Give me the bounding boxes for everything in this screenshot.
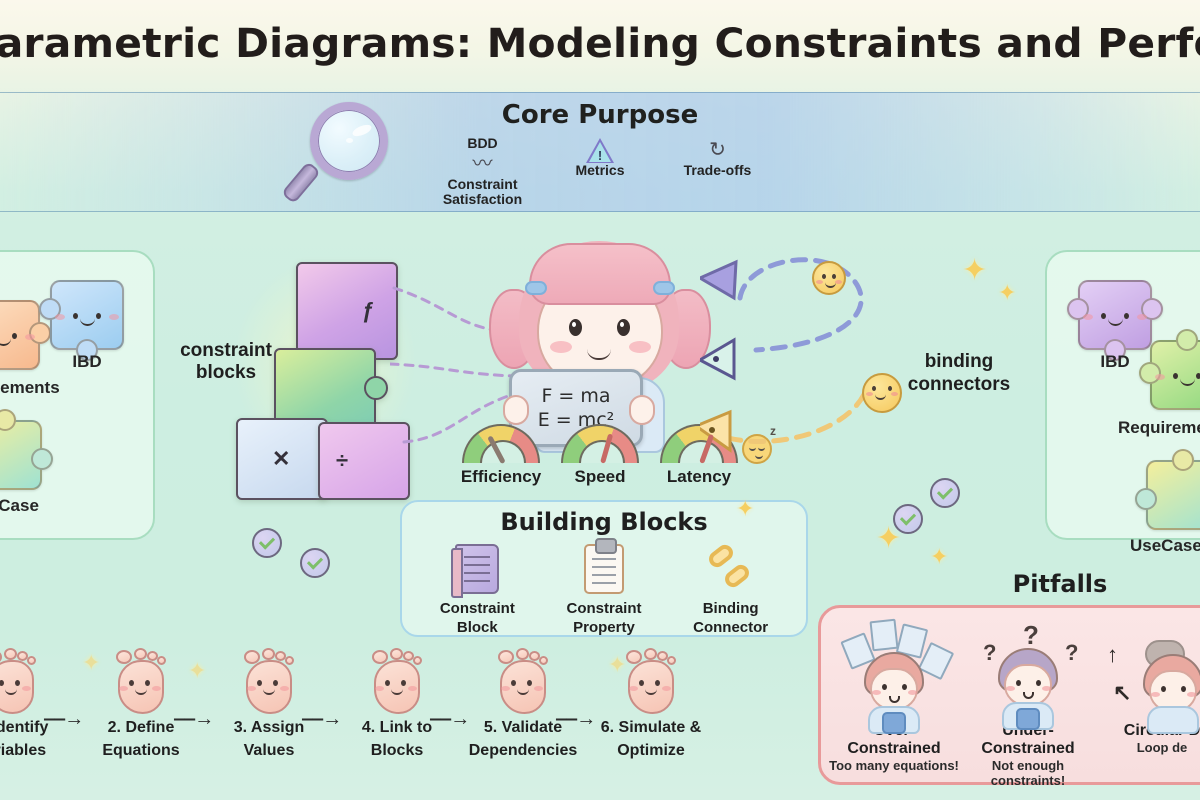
page-title-band: ysML Parametric Diagrams: Modeling Const… <box>0 0 1200 88</box>
step-label-line2: Variables <box>0 741 70 760</box>
cube-glyph-function: ƒ <box>362 298 374 324</box>
core-item-label: Metrics <box>548 163 653 178</box>
bb-label-line1: Constraint <box>418 600 536 617</box>
hand-right <box>629 395 655 425</box>
puzzle-label-ibd: IBD <box>42 352 132 372</box>
puzzle-requirements-right <box>1150 340 1200 410</box>
pitfall-sub: Too many equations! <box>827 758 961 773</box>
sparkle-icon: ✦ <box>608 654 626 676</box>
bb-label-line2: Block <box>418 619 536 636</box>
core-purpose-heading: Core Purpose <box>0 100 1200 130</box>
pitfalls-heading: Pitfalls <box>960 570 1160 598</box>
core-item-constraint-satisfaction: BDD 〰 Constraint Satisfaction <box>430 136 535 207</box>
core-item-metrics: ! Metrics <box>548 136 653 178</box>
hair-fringe <box>529 243 671 305</box>
building-block-binding-connector: Binding Connector <box>672 540 790 636</box>
bdd-label: BDD <box>430 136 535 150</box>
eye-left <box>569 319 582 336</box>
step-label-line2: Blocks <box>338 741 456 760</box>
gauge-label: Efficiency <box>455 467 547 487</box>
step-1: 1. Identify Variables <box>0 648 70 760</box>
footprint-icon <box>368 648 426 714</box>
wink-face-icon <box>812 261 846 295</box>
stressed-kid <box>860 652 928 732</box>
question-marks-icon: ? ? ? <box>961 618 1095 722</box>
sparkle-icon: ✦ <box>998 282 1016 304</box>
puzzle-usecase-left <box>0 420 42 490</box>
bb-label-line1: Constraint <box>545 600 663 617</box>
bb-label-line2: Connector <box>672 619 790 636</box>
step-label-line2: Equations <box>82 741 200 760</box>
sparkle-icon: ✦ <box>876 524 901 554</box>
sparkle-icon: ✦ <box>188 660 206 682</box>
engineer-girl: F = ma E = mc² <box>495 237 705 452</box>
papers-overwhelm-icon <box>827 618 961 722</box>
tradeoff-loop-icon: ↻ <box>665 137 770 163</box>
step-label-line2: Optimize <box>592 741 710 760</box>
hair-tie-right <box>653 281 675 295</box>
hand-left <box>503 395 529 425</box>
cube-glyph-multiply: ✕ <box>272 446 290 472</box>
gauge-arc <box>462 424 540 463</box>
footprint-icon <box>240 648 298 714</box>
bb-label-line1: Binding <box>672 600 790 617</box>
core-purpose-items: BDD 〰 Constraint Satisfaction ! Metrics … <box>430 136 770 208</box>
constraint-blocks-label-line1: constraint <box>178 340 274 362</box>
binding-connector-paths <box>700 240 920 460</box>
core-item-label-2: Satisfaction <box>430 192 535 207</box>
warning-triangle-icon: ! <box>548 137 653 163</box>
puzzle-usecase-right <box>1146 460 1200 530</box>
step-label-line2: Values <box>210 741 328 760</box>
cube-glyph-divide: ÷ <box>336 448 348 474</box>
footprint-icon <box>112 648 170 714</box>
bb-label-line2: Property <box>545 619 663 636</box>
sparkle-icon: ✦ <box>82 652 100 674</box>
puzzle-ibd-left <box>50 280 124 350</box>
core-item-label: Trade-offs <box>665 163 770 178</box>
binding-label-line2: connectors <box>900 373 1018 396</box>
pitfall-sub: Not enough constraints! <box>961 758 1095 788</box>
step-5: 5. Validate Dependencies <box>464 648 582 760</box>
footprint-icon <box>0 648 40 714</box>
building-blocks-items: Constraint Block Constraint Property Bin… <box>414 540 794 636</box>
pitfall-circular-dependency: ↑ ↖ Circular D Loop de <box>1095 618 1200 788</box>
binding-label-line1: binding <box>900 350 1018 373</box>
pitfall-sub: Loop de <box>1095 740 1200 755</box>
puzzle-ibd-right <box>1078 280 1152 350</box>
footprint-icon <box>622 648 680 714</box>
smile-face-icon <box>862 373 902 413</box>
building-block-constraint-property: Constraint Property <box>545 540 663 636</box>
dizzy-kid <box>1139 644 1200 724</box>
core-item-label: Constraint <box>430 177 535 192</box>
chain-link-icon <box>672 540 790 598</box>
blush-left <box>550 341 572 353</box>
circular-loop-icon: ↑ ↖ <box>1095 618 1200 722</box>
footprint-icon <box>494 648 552 714</box>
puzzle-label-requirements: Requirements <box>1118 418 1200 438</box>
pitfall-over-constrained: Over-Constrained Too many equations! <box>827 618 961 788</box>
check-badge-icon <box>300 548 330 578</box>
gauge-arc <box>561 424 639 463</box>
check-badge-icon <box>930 478 960 508</box>
step-3: 3. Assign Values <box>210 648 328 760</box>
exclamation-glyph: ! <box>586 149 614 162</box>
sparkle-icon: ✦ <box>962 256 987 286</box>
check-badge-icon <box>252 528 282 558</box>
wavy-constraint-icon: 〰 <box>430 151 535 177</box>
cube-multiply: ✕ <box>236 418 328 500</box>
building-block-constraint-block: Constraint Block <box>418 540 536 636</box>
equation-force: F = ma <box>541 384 610 408</box>
cube-function: ƒ <box>296 262 398 360</box>
step-4: 4. Link to Blocks <box>338 648 456 760</box>
confused-kid <box>994 648 1062 728</box>
puzzle-label-requirements: Requirements <box>0 378 68 398</box>
puzzle-requirements-left <box>0 300 40 370</box>
step-label-line2: Dependencies <box>464 741 582 760</box>
gauge-label: Speed <box>554 467 646 487</box>
sparkle-icon: ✦ <box>736 498 754 520</box>
eye-right <box>617 319 630 336</box>
gauge-needle <box>487 435 505 464</box>
binding-connectors-label: binding connectors <box>900 350 1018 396</box>
clipboard-icon <box>545 540 663 598</box>
sparkle-icon: ✦ <box>930 546 948 568</box>
constraint-blocks-label-line2: blocks <box>178 362 274 384</box>
page-title: ysML Parametric Diagrams: Modeling Const… <box>0 21 1200 67</box>
gauge-efficiency: Efficiency <box>455 424 547 496</box>
book-icon <box>418 540 536 598</box>
hair-tie-left <box>525 281 547 295</box>
gauge-needle <box>600 433 613 463</box>
constraint-blocks-label: constraint blocks <box>178 340 274 384</box>
puzzle-label-usecase: UseCase <box>0 496 58 516</box>
gauge-speed: Speed <box>554 424 646 496</box>
core-item-tradeoffs: ↻ Trade-offs <box>665 136 770 178</box>
puzzle-label-usecase: UseCase <box>1130 536 1200 556</box>
blush-right <box>629 341 651 353</box>
gauge-label: Latency <box>653 467 745 487</box>
pitfall-under-constrained: ? ? ? Under-Constrained Not enough const… <box>961 618 1095 788</box>
pitfalls-items: Over-Constrained Too many equations! ? ?… <box>827 618 1200 788</box>
pitfalls-panel: Over-Constrained Too many equations! ? ?… <box>818 605 1200 785</box>
step-label-line1: 6. Simulate & <box>592 718 710 737</box>
process-steps: 1. Identify Variables ‒‒→ 2. Define Equa… <box>0 648 712 794</box>
